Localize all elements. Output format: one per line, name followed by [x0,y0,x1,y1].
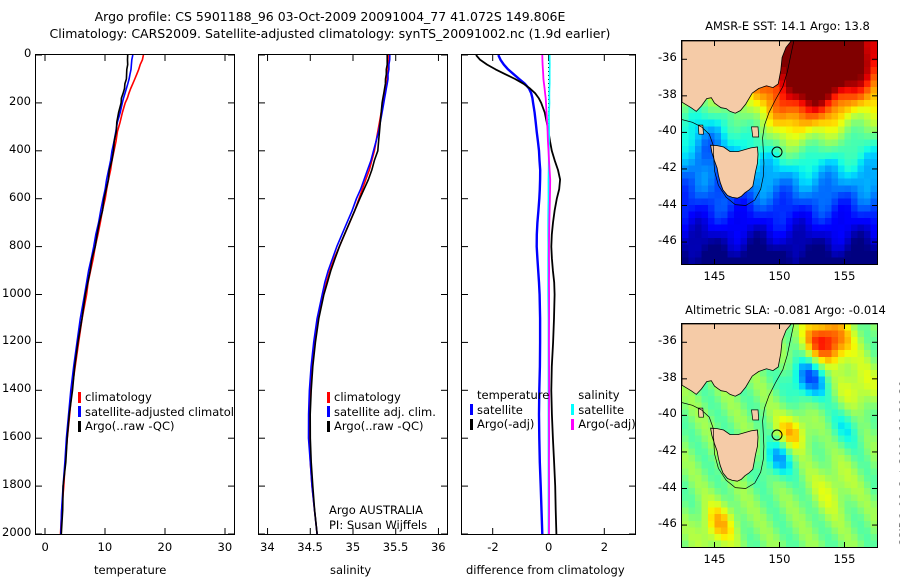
x-tick-label-difference: 0 [545,540,552,554]
legend-label: Argo(-adj) [578,417,635,432]
depth-tick-label: 1200 [2,333,31,347]
sst-map-plot [682,41,877,264]
legend-label: Argo(-adj) [477,417,534,432]
legend-item: Argo(-adj) [571,417,635,432]
difference-profile-panel [461,54,636,535]
depth-tick-label: 600 [9,190,31,204]
depth-tick-label: 1400 [2,381,31,395]
sla-map-panel [681,323,878,548]
legend-header-temperature: temperature [470,388,549,403]
legend-label: climatology [85,390,152,405]
difference-axis-label: difference from climatology [466,563,625,577]
map-lat-tick-label: -38 [658,370,677,384]
figure-title-line2: Climatology: CARS2009. Satellite-adjuste… [0,25,660,42]
legend-label: Argo(..raw -QC) [334,419,424,434]
x-tick-label-salinity: 34 [260,540,275,554]
depth-tick-label: 200 [9,94,31,108]
credit-org: Argo AUSTRALIA [329,503,427,518]
sst-map-panel [681,40,878,265]
legend-swatch-climatology [78,392,81,403]
map-lat-tick-label: -42 [658,443,677,457]
salinity-profile-plot [259,55,447,534]
legend-swatch-satellite-adjusted [327,406,330,417]
figure-title-line1: Argo profile: CS 5901188_96 03-Oct-2009 … [0,8,660,25]
map-lat-tick-label: -40 [658,406,677,420]
legend-item: climatology [327,390,448,405]
legend-swatch-temperature-satellite [470,404,473,415]
legend-header-salinity: salinity [571,388,635,403]
legend-item: satellite [470,403,549,418]
legend-item: satellite [571,403,635,418]
map-lat-tick-label: -44 [658,480,677,494]
map-lat-tick-label: -46 [658,516,677,530]
difference-legend-temperature-column: temperature satellite Argo(-adj) [470,388,549,432]
legend-item: satellite adj. clim. [327,405,448,420]
map-lon-tick-label: 155 [834,552,856,566]
depth-tick-label: 1000 [2,286,31,300]
x-tick-label-salinity: 35 [346,540,361,554]
legend-swatch-temperature-argo [470,419,473,430]
map-lat-tick-label: -36 [658,333,677,347]
legend-label: Argo(..raw -QC) [85,419,175,434]
map-lon-tick-label: 150 [769,552,791,566]
depth-tick-label: 1800 [2,477,31,491]
salinity-profile-panel [258,54,448,535]
legend-label: satellite [578,403,624,418]
legend-swatch-salinity-argo [571,419,574,430]
salinity-axis-label: salinity [330,563,371,577]
legend-label: climatology [334,390,401,405]
credit-block: Argo AUSTRALIA PI: Susan Wijffels [329,503,427,533]
depth-tick-label: 400 [9,142,31,156]
salinity-legend: climatology satellite adj. clim. Argo(..… [327,390,448,438]
map-lat-tick-label: -42 [658,160,677,174]
depth-tick-label: 0 [24,46,31,60]
legend-swatch-salinity-satellite [571,404,574,415]
map-lat-tick-label: -46 [658,233,677,247]
depth-tick-label: 800 [9,238,31,252]
temperature-profile-panel [35,54,235,535]
legend-label: satellite adj. clim. [334,405,436,420]
depth-tick-label: 1600 [2,429,31,443]
x-tick-label-difference: 2 [601,540,608,554]
legend-item: Argo(..raw -QC) [78,419,235,434]
sla-map-plot [682,324,877,547]
legend-item: satellite-adjusted climatology [78,405,235,420]
map-lat-tick-label: -38 [658,87,677,101]
x-tick-label-temperature: 30 [218,540,233,554]
legend-item: Argo(-adj) [470,417,549,432]
sst-map-title: AMSR-E SST: 14.1 Argo: 13.8 [680,19,895,33]
legend-label: satellite [477,403,523,418]
map-lon-tick-label: 145 [704,269,726,283]
legend-item: climatology [78,390,235,405]
difference-profile-plot [462,55,635,534]
legend-swatch-satellite-adjusted [78,406,81,417]
legend-swatch-argo [327,421,330,432]
map-lat-tick-label: -40 [658,123,677,137]
figure-title: Argo profile: CS 5901188_96 03-Oct-2009 … [0,8,660,42]
legend-swatch-climatology [327,392,330,403]
legend-label: satellite-adjusted climatology [85,405,235,420]
depth-tick-label: 2000 [2,525,31,539]
x-tick-label-salinity: 34.5 [297,540,323,554]
x-tick-label-temperature: 10 [98,540,113,554]
credit-pi: PI: Susan Wijffels [329,518,427,533]
map-lon-tick-label: 145 [704,552,726,566]
difference-legend-salinity-column: salinity satellite Argo(-adj) [571,388,635,432]
x-tick-label-salinity: 36 [431,540,446,554]
legend-item: Argo(..raw -QC) [327,419,448,434]
map-lon-tick-label: 150 [769,269,791,283]
map-lon-tick-label: 155 [834,269,856,283]
map-lat-tick-label: -36 [658,50,677,64]
x-tick-label-temperature: 20 [158,540,173,554]
sla-map-title: Altimetric SLA: -0.081 Argo: -0.014 [673,303,898,317]
x-tick-label-temperature: 0 [42,540,49,554]
temperature-axis-label: temperature [94,563,166,577]
x-tick-label-salinity: 35.5 [383,540,409,554]
x-tick-label-difference: -2 [487,540,498,554]
temperature-profile-plot [36,55,234,534]
temperature-legend: climatology satellite-adjusted climatolo… [78,390,235,438]
legend-swatch-argo [78,421,81,432]
difference-legend: temperature satellite Argo(-adj) salinit… [470,388,636,440]
map-lat-tick-label: -44 [658,197,677,211]
